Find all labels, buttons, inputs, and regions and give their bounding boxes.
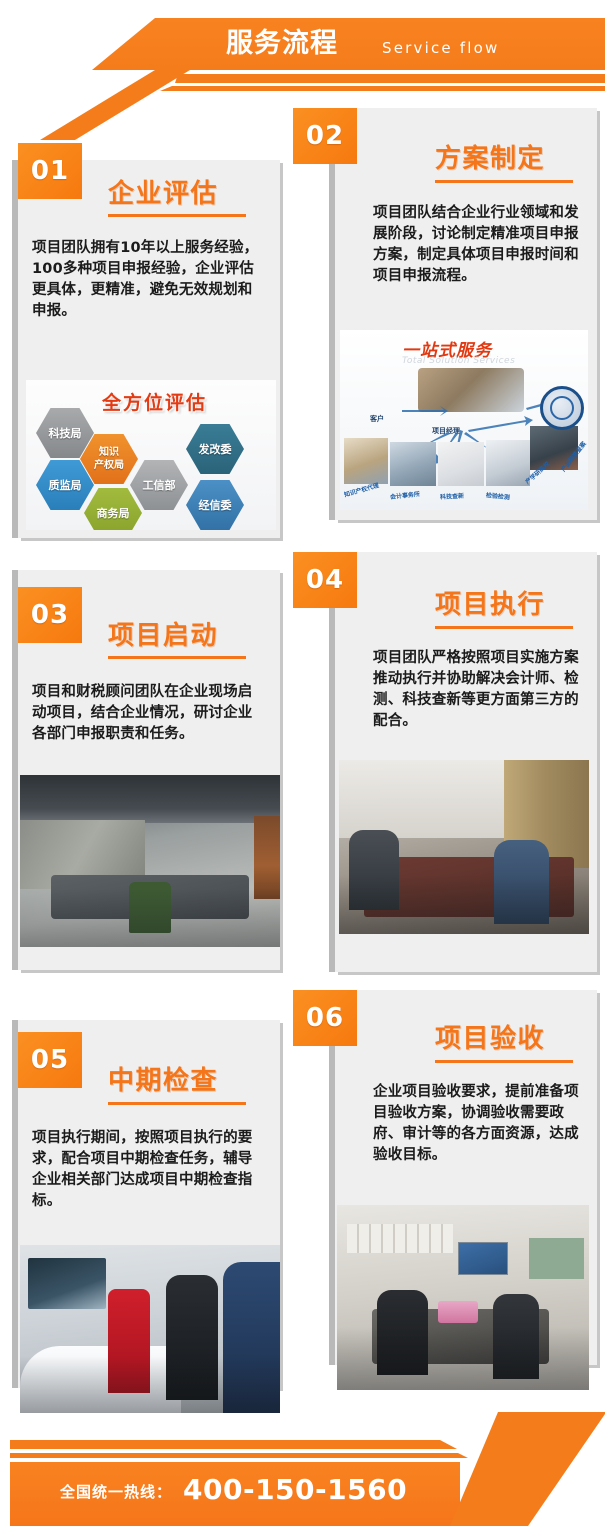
work-session-photo [339, 760, 589, 934]
step-number-badge: 01 [18, 143, 82, 199]
card-title: 企业评估 [108, 173, 218, 210]
thumb-accounting [390, 442, 436, 486]
card-description: 项目团队严格按照项目实施方案推动执行并协助解决会计师、检测、科技查新等更方面第三… [373, 648, 589, 732]
hexagon-infographic: 全方位评估 科技局 知识 产权局 发改委 质监局 工信部 商务局 经信委 [26, 380, 276, 530]
process-step-card-01: 01 企业评估 项目团队拥有10年以上服务经验，100多种项目申报经验，企业评估… [8, 160, 280, 538]
card-title: 中期检查 [108, 1060, 218, 1097]
step-number-badge: 05 [18, 1032, 82, 1088]
certification-seal-icon [540, 386, 584, 430]
site-visit-photo [20, 1245, 280, 1413]
title-underline [108, 214, 246, 217]
acceptance-meeting-photo [337, 1205, 589, 1390]
title-underline [435, 180, 573, 183]
card-left-shadow-strip [12, 160, 18, 538]
hex-node-shangwu: 商务局 [84, 488, 142, 530]
hotline-phone[interactable]: 400-150-1560 [183, 1473, 407, 1506]
card-left-shadow-strip [329, 108, 335, 520]
step-number-badge: 06 [293, 990, 357, 1046]
hotline-label: 全国统一热线： [60, 1481, 172, 1502]
thumb-tech-novelty [438, 442, 484, 486]
card-description: 项目团队拥有10年以上服务经验，100多种项目申报经验，企业评估更具体，更精准，… [32, 238, 260, 322]
card-description: 项目执行期间，按照项目执行的要求，配合项目中期检查任务，辅导企业相关部门达成项目… [32, 1128, 260, 1212]
page-header: 服务流程 Service flow [0, 0, 605, 122]
label-tech-novelty: 科技查新 [440, 491, 464, 501]
one-stop-service-infographic: 一站式服务 Total Solution Services 客户 项目经理 知识… [340, 330, 588, 510]
card-left-shadow-strip [329, 552, 335, 972]
infographic-title: 全方位评估 [102, 388, 207, 415]
process-step-card-06: 06 项目验收 企业项目验收要求，提前准备项目验收方案，协调验收需要政府、审计等… [325, 990, 597, 1365]
card-description: 项目和财税顾问团队在企业现场启动项目，结合企业情况，研讨企业各部门申报职责和任务… [32, 682, 260, 745]
hex-node-fagai: 发改委 [186, 424, 244, 474]
hex-node-jingxin: 经信委 [186, 480, 244, 530]
page-footer: 全国统一热线： 400-150-1560 [0, 1404, 605, 1538]
header-banner-tail [40, 70, 190, 140]
process-step-card-05: 05 中期检查 项目执行期间，按照项目执行的要求，配合项目中期检查任务，辅导企业… [8, 1020, 280, 1388]
card-description: 企业项目验收要求，提前准备项目验收方案，协调验收需要政府、审计等的各方面资源，达… [373, 1082, 589, 1166]
card-title: 项目执行 [435, 584, 545, 621]
card-title: 项目启动 [108, 615, 218, 652]
step-number-badge: 02 [293, 108, 357, 164]
card-title: 项目验收 [435, 1018, 545, 1055]
page-title: 服务流程 [226, 27, 338, 61]
card-left-shadow-strip [329, 990, 335, 1365]
title-underline [435, 626, 573, 629]
process-step-card-02: 02 方案制定 项目团队结合企业行业领域和发展阶段，讨论制定精准项目申报方案，制… [325, 108, 597, 520]
card-description: 项目团队结合企业行业领域和发展阶段，讨论制定精准项目申报方案，制定具体项目申报时… [373, 203, 589, 287]
step-number-badge: 03 [18, 587, 82, 643]
thumb-ip-agency [344, 438, 388, 484]
title-underline [108, 1102, 246, 1105]
header-banner-stripe-2 [0, 86, 605, 91]
header-banner-stripe-1 [0, 74, 605, 83]
hex-node-gongxin: 工信部 [130, 460, 188, 510]
step-number-badge: 04 [293, 552, 357, 608]
page-subtitle: Service flow [382, 36, 500, 60]
title-underline [435, 1060, 573, 1063]
meeting-room-photo [20, 775, 280, 947]
process-step-card-04: 04 项目执行 项目团队严格按照项目实施方案推动执行并协助解决会计师、检测、科技… [325, 552, 597, 972]
title-underline [108, 656, 246, 659]
process-step-card-03: 03 项目启动 项目和财税顾问团队在企业现场启动项目，结合企业情况，研讨企业各部… [8, 570, 280, 970]
card-title: 方案制定 [435, 138, 545, 175]
